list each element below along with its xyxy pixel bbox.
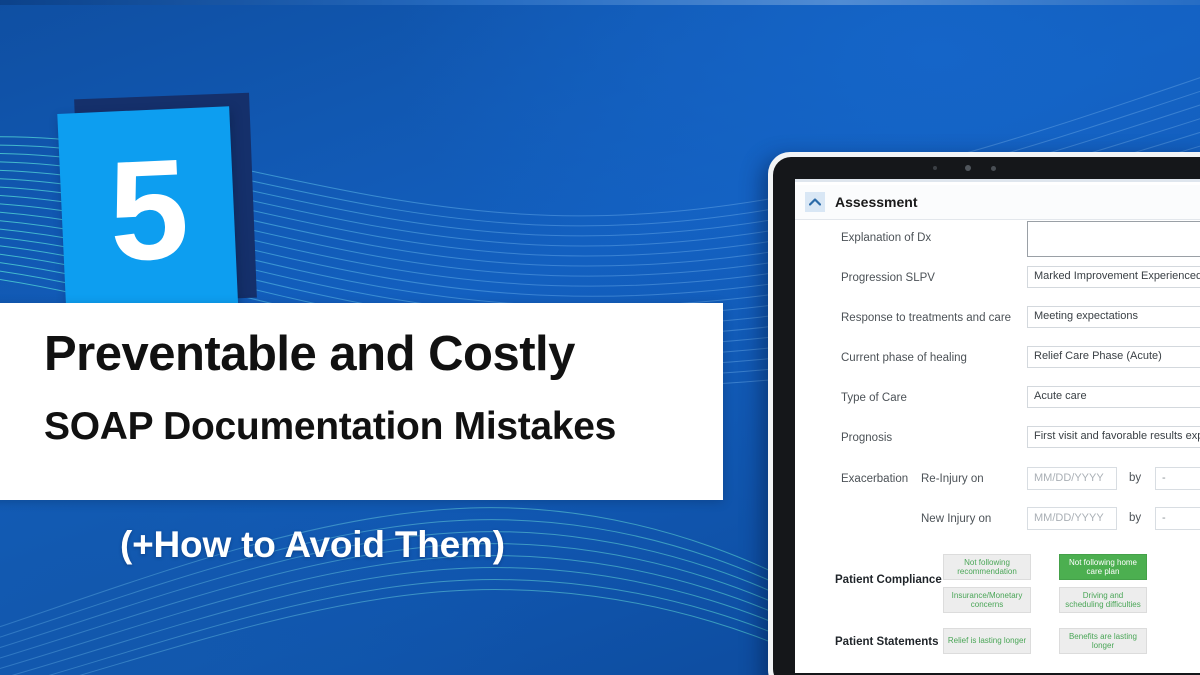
screen-top-divider: [795, 179, 1200, 182]
chip-group: Patient StatementsRelief is lasting long…: [795, 624, 1200, 673]
field-label: Current phase of healing: [841, 352, 967, 364]
field-label: Response to treatments and care: [841, 312, 1011, 324]
page-subtitle: (+How to Avoid Them): [120, 524, 505, 566]
tablet-screen: Assessment Explanation of DxProgression …: [795, 179, 1200, 673]
select-field[interactable]: Marked Improvement Experienced: [1027, 266, 1200, 288]
chip-group-label: Patient Compliance: [835, 574, 942, 586]
field-label: Progression SLPV: [841, 272, 935, 284]
exacerbation-row-label: Re-Injury on: [921, 473, 984, 485]
exacerbation-row-label: New Injury on: [921, 513, 991, 525]
section-title: Assessment: [835, 194, 918, 210]
tablet-bezel: Assessment Explanation of DxProgression …: [773, 157, 1200, 675]
badge-number: 5: [57, 106, 238, 326]
chip-group-label: Patient Statements: [835, 636, 939, 648]
selectable-chip[interactable]: Not following recommendation: [943, 554, 1031, 580]
exacerbation-row: ExacerbationRe-Injury onMM/DD/YYYYby-: [795, 460, 1200, 500]
date-input[interactable]: MM/DD/YYYY: [1027, 467, 1117, 490]
title-card: Preventable and Costly SOAP Documentatio…: [0, 303, 723, 500]
form-row: Current phase of healingRelief Care Phas…: [795, 340, 1200, 380]
select-field[interactable]: Acute care: [1027, 386, 1200, 408]
field-label: Prognosis: [841, 432, 892, 444]
by-select[interactable]: -: [1155, 507, 1200, 530]
sensor-dot-icon: [991, 166, 996, 171]
tablet-camera-row: [773, 157, 1200, 179]
textarea-field[interactable]: [1027, 221, 1200, 257]
selectable-chip[interactable]: Insurance/Monetary concerns: [943, 587, 1031, 613]
field-label: Type of Care: [841, 392, 907, 404]
select-field[interactable]: Meeting expectations: [1027, 306, 1200, 328]
select-field[interactable]: Relief Care Phase (Acute): [1027, 346, 1200, 368]
sensor-dot-icon: [933, 166, 937, 170]
date-input[interactable]: MM/DD/YYYY: [1027, 507, 1117, 530]
chip-group: Patient ComplianceNot following recommen…: [795, 550, 1200, 620]
page-title-line1: Preventable and Costly: [44, 329, 704, 380]
form-row: Explanation of Dx: [795, 220, 1200, 260]
select-field[interactable]: First visit and favorable results expect…: [1027, 426, 1200, 448]
form-row: PrognosisFirst visit and favorable resul…: [795, 420, 1200, 460]
field-label: Explanation of Dx: [841, 232, 931, 244]
by-label: by: [1129, 472, 1141, 484]
chevron-up-icon[interactable]: [805, 192, 825, 212]
form-row: Type of CareAcute care: [795, 380, 1200, 420]
exacerbation-row: New Injury onMM/DD/YYYYby-: [795, 500, 1200, 540]
selectable-chip[interactable]: Not following home care plan: [1059, 554, 1147, 580]
page-title-line2: SOAP Documentation Mistakes: [44, 407, 704, 448]
by-select[interactable]: -: [1155, 467, 1200, 490]
slide-canvas: 5 Preventable and Costly SOAP Documentat…: [0, 0, 1200, 675]
by-label: by: [1129, 512, 1141, 524]
exacerbation-group-label: Exacerbation: [841, 473, 908, 485]
assessment-form-body: Explanation of DxProgression SLPVMarked …: [795, 220, 1200, 673]
form-row: Progression SLPVMarked Improvement Exper…: [795, 260, 1200, 300]
form-row: Response to treatments and careMeeting e…: [795, 300, 1200, 340]
number-badge: 5: [57, 106, 238, 326]
selectable-chip[interactable]: Driving and scheduling difficulties: [1059, 587, 1147, 613]
camera-dot-icon: [965, 165, 971, 171]
assessment-section-header[interactable]: Assessment: [795, 185, 1200, 220]
selectable-chip[interactable]: Benefits are lasting longer: [1059, 628, 1147, 654]
tablet-device: Assessment Explanation of DxProgression …: [768, 152, 1200, 675]
selectable-chip[interactable]: Relief is lasting longer: [943, 628, 1031, 654]
